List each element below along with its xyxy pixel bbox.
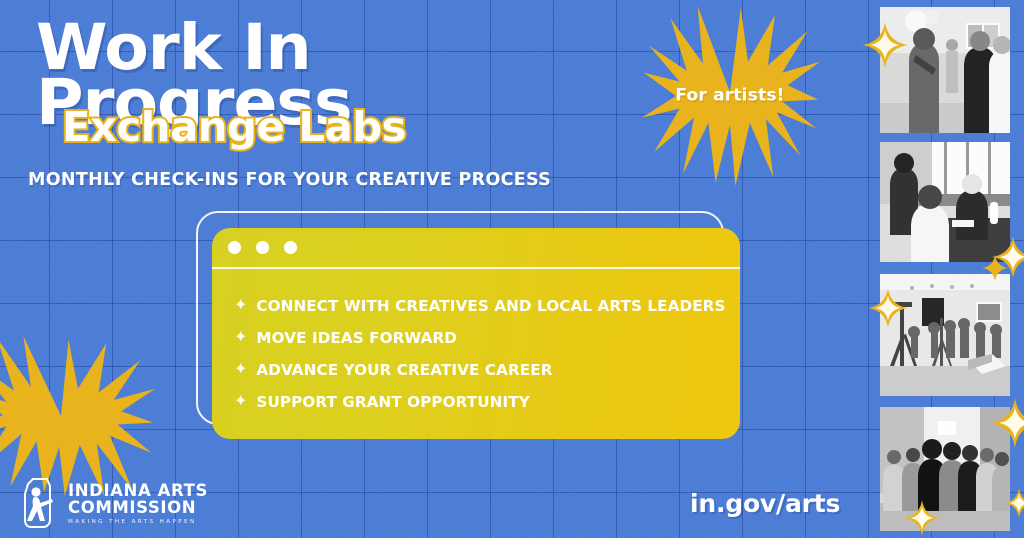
starburst-icon [0,336,156,496]
indiana-arts-commission-logo: INDIANA ARTS COMMISSION MAKING THE ARTS … [22,478,208,528]
photo-strip [880,0,1024,538]
benefits-list: ✦ CONNECT WITH CREATIVES AND LOCAL ARTS … [234,297,726,425]
list-item-label: CONNECT WITH CREATIVES AND LOCAL ARTS LE… [256,297,725,315]
list-item-label: MOVE IDEAS FORWARD [256,329,457,347]
window-dot-2 [256,241,269,254]
logo-wordmark: INDIANA ARTS COMMISSION MAKING THE ARTS … [68,481,208,525]
logo-tagline: MAKING THE ARTS HAPPEN [68,519,208,525]
indiana-figure-mark-icon [22,478,60,528]
sparkle-bullet-icon: ✦ [234,361,247,377]
website-url[interactable]: in.gov/arts [690,489,840,518]
photo-table-meeting [880,142,1010,262]
headline-overlay-exchange-labs: Exchange Labs [62,107,406,148]
sparkle-bullet-icon: ✦ [234,393,247,409]
benefits-card: ✦ CONNECT WITH CREATIVES AND LOCAL ARTS … [196,211,756,451]
list-item: ✦ MOVE IDEAS FORWARD [234,329,726,347]
photo-gallery-reception [880,7,1010,133]
headline-block: Work In Progress Exchange Labs [36,22,656,130]
card-titlebar [212,228,740,267]
decorative-starburst [0,336,156,496]
sparkle-bullet-icon: ✦ [234,329,247,345]
badge-label: For artists! [640,86,820,106]
photo-group-portrait [880,407,1010,531]
window-dot-1 [228,241,241,254]
list-item: ✦ CONNECT WITH CREATIVES AND LOCAL ARTS … [234,297,726,315]
list-item-label: ADVANCE YOUR CREATIVE CAREER [256,361,552,379]
card-body: ✦ CONNECT WITH CREATIVES AND LOCAL ARTS … [212,228,740,439]
window-dot-3 [284,241,297,254]
list-item-label: SUPPORT GRANT OPPORTUNITY [256,393,529,411]
card-divider [212,267,740,269]
photo-studio-setup [880,274,1010,396]
poster-canvas: Work In Progress Exchange Labs MONTHLY C… [0,0,1024,538]
window-dots [228,241,297,254]
sparkle-bullet-icon: ✦ [234,297,247,313]
for-artists-starburst-badge: For artists! [640,6,820,186]
tagline: MONTHLY CHECK-INS FOR YOUR CREATIVE PROC… [28,170,551,190]
logo-line-2: COMMISSION [68,500,208,516]
list-item: ✦ ADVANCE YOUR CREATIVE CAREER [234,361,726,379]
list-item: ✦ SUPPORT GRANT OPPORTUNITY [234,393,726,411]
